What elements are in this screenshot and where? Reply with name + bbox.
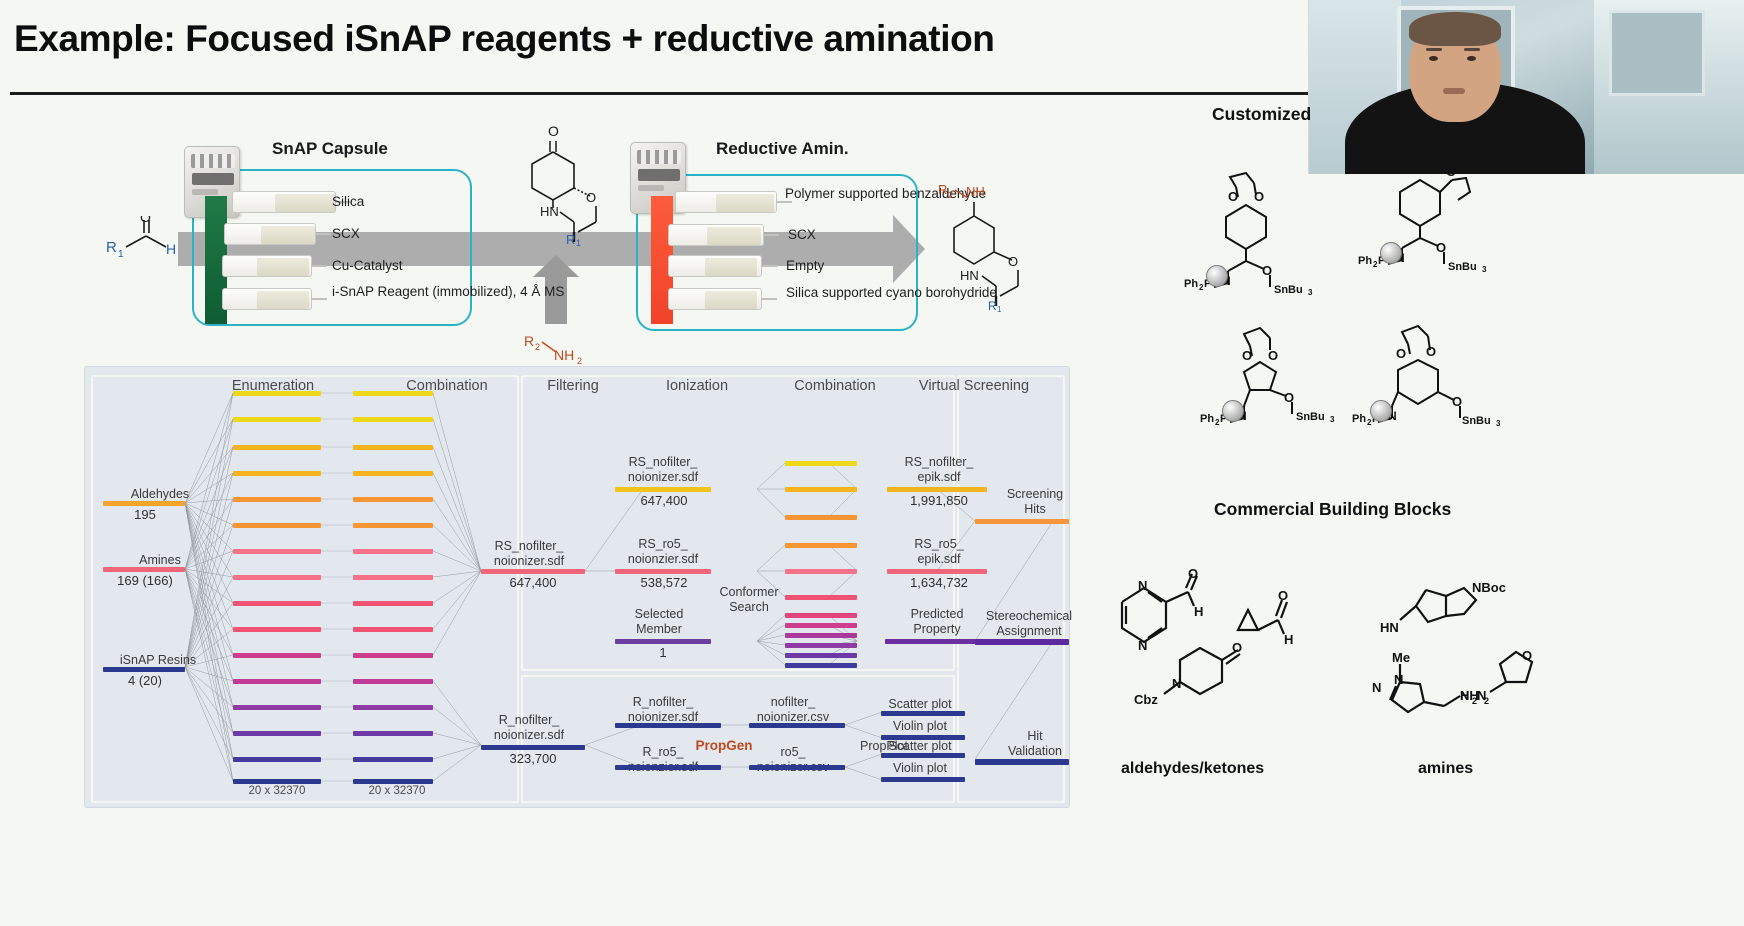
svg-text:N: N <box>1394 672 1403 687</box>
svg-text:H: H <box>1460 688 1469 703</box>
node-label-rs-nofilter-noionizer-2: RS_nofilter_ noionizer.sdf <box>603 455 723 484</box>
cartridge-label-2: Cu-Catalyst <box>332 258 403 274</box>
cartridge-fill <box>275 194 335 212</box>
node-label-hit-validation: Hit Validation <box>985 729 1085 758</box>
node-bar-rs-ro5-epik <box>887 569 987 574</box>
node-label-rs-nofilter-epik: RS_nofilter_ epik.sdf <box>881 455 997 484</box>
enum-bar-9 <box>233 601 321 606</box>
enum-bar-12 <box>233 679 321 684</box>
svg-text:3: 3 <box>1482 265 1487 274</box>
instrument-panel <box>638 169 680 181</box>
svg-text:NBoc: NBoc <box>1472 580 1506 595</box>
enum-bar-2 <box>233 417 321 422</box>
svg-text:O: O <box>586 190 596 205</box>
svg-text:O: O <box>1452 394 1462 409</box>
stage-label-virtual-screening: Virtual Screening <box>909 378 1039 395</box>
column-footer-1: 20 x 32370 <box>227 785 327 797</box>
svg-text:O: O <box>1228 189 1238 204</box>
webcam-window <box>1609 10 1705 96</box>
comb-bar-16 <box>353 779 433 784</box>
svg-text:Ph: Ph <box>1200 413 1214 425</box>
node-label-violin-plot-1: Violin plot <box>871 719 969 734</box>
commercial-building-blocks-heading: Commercial Building Blocks <box>1214 499 1451 520</box>
svg-text:3: 3 <box>1330 415 1335 424</box>
instrument-panel-secondary <box>638 185 664 191</box>
cartridge-fill <box>705 291 757 309</box>
node-label-rs-ro5-epik: RS_ro5_ epik.sdf <box>881 537 997 566</box>
column-footer-2: 20 x 32370 <box>347 785 447 797</box>
node-bar-rs-nofilter-noionizer-2 <box>615 487 711 492</box>
node-bar-r-ro5-noionzier <box>615 765 721 770</box>
cbz-piperidinone-structure: O N Cbz <box>1134 634 1264 729</box>
ion-bar-5 <box>785 569 857 574</box>
node-label-screening-hits: Screening Hits <box>985 487 1085 516</box>
cartridge-empty <box>668 255 762 277</box>
svg-text:O: O <box>1426 344 1436 359</box>
svg-text:NH: NH <box>554 347 574 363</box>
node-bar-scatter-plot-2 <box>881 753 965 758</box>
webcam-presenter-hair <box>1409 12 1501 46</box>
instrument-panel-secondary <box>192 189 218 195</box>
node-value-rs-nofilter-epik: 1,991,850 <box>881 493 997 508</box>
cartridge-needle <box>761 265 777 267</box>
svg-text:N: N <box>1372 680 1381 695</box>
conformer-bar-2 <box>785 623 857 628</box>
svg-text:3: 3 <box>1496 419 1501 428</box>
reductive-amination-title: Reductive Amin. <box>716 139 849 159</box>
svg-text:N: N <box>1477 688 1486 703</box>
enum-bar-7 <box>233 549 321 554</box>
svg-text:Ph: Ph <box>1358 255 1372 267</box>
customized-reagent-structure-3: O O O SnBu 3 Ph 2 P N <box>1200 322 1360 457</box>
svg-text:O: O <box>1268 348 1278 363</box>
comb-bar-10 <box>353 627 433 632</box>
resin-bead-icon <box>1380 242 1402 264</box>
svg-text:SnBu: SnBu <box>1448 261 1477 273</box>
svg-text:O: O <box>1254 189 1264 204</box>
node-value-rs-nofilter-noionizer-2: 647,400 <box>609 493 719 508</box>
ion-bar-2 <box>785 487 857 492</box>
node-bar-rs-nofilter-epik <box>887 487 987 492</box>
svg-text:NH: NH <box>966 184 985 199</box>
cartridge-label-1: SCX <box>332 226 360 242</box>
svg-text:3: 3 <box>1308 288 1313 295</box>
svg-text:R: R <box>988 299 997 312</box>
enum-bar-13 <box>233 705 321 710</box>
comb-bar-13 <box>353 705 433 710</box>
svg-text:Cbz: Cbz <box>1134 692 1158 707</box>
cartridge-needle <box>315 233 331 235</box>
ion-bar-3 <box>785 515 857 520</box>
node-value-r-nofilter-noionizer-main: 323,700 <box>475 751 591 766</box>
svg-text:O: O <box>1284 390 1294 405</box>
aminotetrahydrofuran-structure: O H 2 N <box>1460 638 1570 723</box>
amine-reagent-structure: R 2 NH 2 <box>524 330 604 371</box>
propgen-label: PropGen <box>681 739 767 754</box>
svg-text:N: N <box>1172 676 1181 691</box>
node-label-conformer-search: Conformer Search <box>693 585 805 614</box>
cartridge-isnap-reagent <box>222 288 312 310</box>
customized-reagent-structure-2: O O SnBu 3 Ph 2 P N <box>1358 158 1518 293</box>
instrument-slots <box>191 154 235 168</box>
svg-text:SnBu: SnBu <box>1274 284 1303 295</box>
node-bar-ro5-noionizer-csv <box>749 765 845 770</box>
node-bar-rs-nofilter-noionizer <box>481 569 585 574</box>
enum-bar-1 <box>233 391 321 396</box>
svg-text:O: O <box>548 123 559 139</box>
node-label-r-nofilter-noionizer-main: R_nofilter_ noionizer.sdf <box>469 713 589 742</box>
cartridge-fill <box>257 258 309 276</box>
enum-bar-11 <box>233 653 321 658</box>
conformer-bar-6 <box>785 663 857 668</box>
cartridge-scx-right <box>668 224 764 246</box>
page-title: Example: Focused iSnAP reagents + reduct… <box>14 18 995 60</box>
enum-bar-8 <box>233 575 321 580</box>
cartridge-cu-catalyst <box>222 255 312 277</box>
workflow-panel: Enumeration Combination Filtering Ioniza… <box>84 366 1070 808</box>
svg-text:R: R <box>566 232 575 246</box>
enum-bar-15 <box>233 757 321 762</box>
customized-reagent-structure-4: O O O SnBu 3 Ph 2 P N <box>1352 322 1522 457</box>
node-bar-r-nofilter-noionizer <box>615 723 721 728</box>
comb-bar-8 <box>353 575 433 580</box>
svg-text:SnBu: SnBu <box>1462 415 1491 427</box>
webcam-presenter-eye-left <box>1429 56 1438 61</box>
node-bar-hit-validation <box>975 759 1069 765</box>
input-value-aldehydes: 195 <box>105 507 185 522</box>
svg-text:O: O <box>1008 254 1018 269</box>
input-label-isnap-resins: iSnAP Resins <box>97 653 219 668</box>
ion-bar-1 <box>785 461 857 466</box>
input-bar-aldehydes <box>103 501 185 506</box>
svg-text:HN: HN <box>1380 620 1399 635</box>
svg-text:SnBu: SnBu <box>1296 411 1325 423</box>
webcam-presenter-brow-left <box>1426 48 1442 51</box>
comb-bar-7 <box>353 549 433 554</box>
cartridge-polymer-benzaldehyde <box>675 191 777 213</box>
node-label-scatter-plot-1: Scatter plot <box>871 697 969 712</box>
webcam-overlay <box>1308 0 1744 174</box>
cartridge-label-0: Silica <box>332 194 364 210</box>
svg-text:O: O <box>1278 588 1288 603</box>
svg-text:O: O <box>1522 648 1532 663</box>
node-value-selected-member: 1 <box>611 645 715 660</box>
ion-bar-4 <box>785 543 857 548</box>
comb-bar-9 <box>353 601 433 606</box>
svg-text:Me: Me <box>1392 650 1410 665</box>
node-bar-r-nofilter-noionizer-main <box>481 745 585 750</box>
svg-text:1: 1 <box>118 249 124 260</box>
webcam-presenter-mouth <box>1443 88 1465 94</box>
cartridge-needle <box>311 298 327 300</box>
svg-text:Ph: Ph <box>1184 278 1198 290</box>
cartridge-label-3: i-SnAP Reagent (immobilized), 4 Å MS <box>332 284 564 300</box>
svg-text:O: O <box>1242 348 1252 363</box>
propplot-label: PropPlot <box>841 739 927 754</box>
node-bar-stereochemical-assignment <box>975 639 1069 645</box>
enum-bar-6 <box>233 523 321 528</box>
cartridge-needle <box>761 298 777 300</box>
customized-reagent-structure-1: O O O SnBu 3 Ph 2 P N <box>1184 165 1344 300</box>
instrument-slots <box>637 150 681 164</box>
svg-text:H: H <box>1194 604 1203 619</box>
cartridge-needle <box>311 265 327 267</box>
svg-text:2: 2 <box>535 342 540 352</box>
svg-text:HN: HN <box>540 204 559 219</box>
comb-bar-5 <box>353 497 433 502</box>
cartridge-scx <box>224 223 316 245</box>
svg-text:1: 1 <box>997 305 1002 312</box>
input-bar-amines <box>103 567 185 572</box>
node-label-rs-nofilter-noionizer: RS_nofilter_ noionizer.sdf <box>469 539 589 568</box>
stage-label-filtering: Filtering <box>513 378 633 395</box>
node-value-rs-ro5-epik: 1,634,732 <box>881 575 997 590</box>
input-bar-isnap-resins <box>103 667 185 672</box>
comb-bar-12 <box>353 679 433 684</box>
node-bar-screening-hits <box>975 519 1069 524</box>
enum-bar-4 <box>233 471 321 476</box>
comb-bar-3 <box>353 445 433 450</box>
enum-bar-3 <box>233 445 321 450</box>
comb-bar-6 <box>353 523 433 528</box>
svg-text:HN: HN <box>960 268 979 283</box>
node-bar-scatter-plot-1 <box>881 711 965 716</box>
cartridge-silica-cyanoborohydride <box>668 288 762 310</box>
svg-text:O: O <box>140 216 151 225</box>
node-label-violin-plot-2: Violin plot <box>871 761 969 776</box>
input-label-amines: Amines <box>105 553 215 568</box>
comb-bar-1 <box>353 391 433 396</box>
cartridge-silica <box>232 191 336 213</box>
resin-bead-icon <box>1370 400 1392 422</box>
svg-text:2: 2 <box>577 356 582 366</box>
snap-capsule-title: SnAP Capsule <box>272 139 388 159</box>
comb-bar-2 <box>353 417 433 422</box>
svg-text:R: R <box>106 239 117 256</box>
node-bar-violin-plot-2 <box>881 777 965 782</box>
comb-bar-15 <box>353 757 433 762</box>
resin-bead-icon <box>1222 400 1244 422</box>
svg-text:1: 1 <box>576 238 581 246</box>
enum-bar-14 <box>233 731 321 736</box>
amine-input-arrow-head <box>533 255 579 277</box>
stage-label-ionization: Ionization <box>637 378 757 395</box>
conformer-bar-5 <box>785 653 857 658</box>
svg-text:N: N <box>1138 578 1147 593</box>
webcam-presenter-brow-right <box>1464 48 1480 51</box>
node-label-nofilter-noionizer-csv: nofilter_ noionizer.csv <box>737 695 849 724</box>
svg-text:O: O <box>1232 640 1242 655</box>
node-label-rs-ro5-noionzier: RS_ro5_ noionzier.sdf <box>603 537 723 566</box>
cartridge-fill <box>257 291 309 309</box>
conformer-bar-4 <box>785 643 857 648</box>
comb-bar-14 <box>353 731 433 736</box>
input-value-amines: 169 (166) <box>97 573 193 588</box>
webcam-presenter-eye-right <box>1467 56 1476 61</box>
aldehyde-reactant-structure: R 1 O H <box>104 216 194 277</box>
cartridge-fill <box>705 258 757 276</box>
product-structure: R 2 NH O HN R 1 <box>928 180 1038 317</box>
node-bar-selected-member <box>615 639 711 644</box>
slide-root: Example: Focused iSnAP reagents + reduct… <box>0 0 1744 926</box>
comb-bar-11 <box>353 653 433 658</box>
intermediate-structure: O O HN R 1 <box>512 122 612 251</box>
instrument-panel <box>192 173 234 185</box>
enum-bar-5 <box>233 497 321 502</box>
customized-heading: Customized <box>1212 104 1311 125</box>
workflow-subpanel-enumeration <box>91 375 519 803</box>
node-bar-predicted-property <box>885 639 989 644</box>
cartridge-fill <box>261 226 315 244</box>
svg-text:R: R <box>938 182 947 197</box>
svg-text:O: O <box>1396 346 1406 361</box>
resin-bead-icon <box>1206 265 1228 287</box>
svg-text:O: O <box>1262 263 1272 278</box>
caption-aldehydes-ketones: aldehydes/ketones <box>1121 760 1264 778</box>
svg-text:R: R <box>524 333 534 349</box>
node-label-stereochemical-assignment: Stereochemical Assignment <box>969 609 1089 638</box>
cartridge-fill <box>716 194 774 212</box>
svg-text:O: O <box>1188 568 1198 581</box>
enum-bar-16 <box>233 779 321 784</box>
node-bar-rs-ro5-noionzier <box>615 569 711 574</box>
node-value-rs-nofilter-noionizer: 647,400 <box>475 575 591 590</box>
input-label-aldehydes: Aldehydes <box>105 487 215 502</box>
stage-label-combination-2: Combination <box>761 378 909 395</box>
svg-text:Ph: Ph <box>1352 413 1366 425</box>
cartridge-label-r1: SCX <box>788 227 816 243</box>
svg-text:H: H <box>166 241 176 257</box>
svg-text:2: 2 <box>948 190 953 200</box>
cartridge-fill <box>707 227 761 245</box>
node-label-r-nofilter-noionizer: R_nofilter_ noionizer.sdf <box>605 695 721 724</box>
svg-text:O: O <box>1446 164 1456 179</box>
node-bar-nofilter-noionizer-csv <box>749 723 845 728</box>
cartridge-label-r2: Empty <box>786 258 824 274</box>
cartridge-needle <box>763 234 779 236</box>
input-value-isnap-resins: 4 (20) <box>105 673 185 688</box>
comb-bar-4 <box>353 471 433 476</box>
svg-text:O: O <box>1436 240 1446 255</box>
conformer-bar-3 <box>785 633 857 638</box>
enum-bar-10 <box>233 627 321 632</box>
caption-amines: amines <box>1418 760 1473 778</box>
svg-text:H: H <box>1284 632 1293 647</box>
